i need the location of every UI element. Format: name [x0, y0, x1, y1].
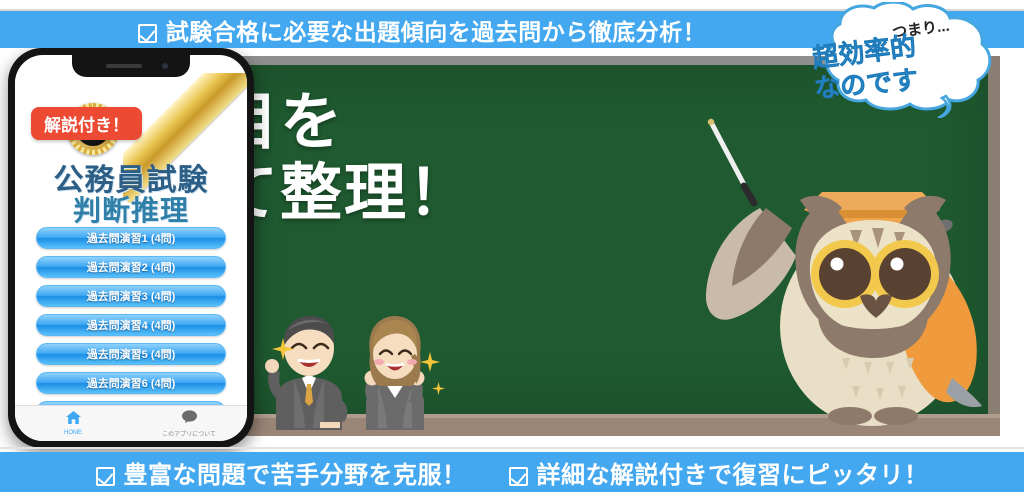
phone-mockup: BEST CHOICE 解説付き！ 公務員試験 判断推理 過去問演習1 (4問)…: [8, 48, 254, 448]
bottom-divider: [0, 447, 1024, 449]
home-icon: [66, 411, 81, 429]
checkbox-checked-icon: [96, 467, 115, 486]
question-set-button[interactable]: 過去問演習1 (4問): [36, 227, 226, 249]
bottom-banner-item-1: 豊富な問題で苦手分野を克服！: [96, 455, 467, 490]
app-screen: BEST CHOICE 解説付き！ 公務員試験 判断推理 過去問演習1 (4問)…: [15, 77, 247, 441]
promo-banner-image: 頻出項目を まとめて整理！: [0, 0, 1024, 500]
question-set-button[interactable]: 過去問演習2 (4問): [36, 256, 226, 278]
bottom-banner-text-2: 詳細な解説付きで復習にピッタリ！: [537, 462, 929, 489]
sparkle-icon-left: [272, 338, 294, 365]
pointer-stick: [708, 119, 754, 203]
question-set-button[interactable]: 過去問演習4 (4問): [36, 314, 226, 336]
bottom-banner: 豊富な問題で苦手分野を克服！ 詳細な解説付きで復習にピッタリ！: [0, 452, 1024, 492]
tab-home[interactable]: HOME: [15, 406, 131, 441]
tab-about-label: このアプリについて: [162, 429, 216, 438]
question-set-button[interactable]: 過去問演習6 (4問): [36, 372, 226, 394]
bottom-banner-text-1: 豊富な問題で苦手分野を克服！: [124, 462, 467, 489]
bottom-banner-item-2: 詳細な解説付きで復習にピッタリ！: [509, 455, 929, 490]
owl-professor-illustration: [700, 96, 1020, 426]
female-student: [365, 316, 425, 430]
top-banner-text: 試験合格に必要な出題傾向を過去問から徹底分析！: [166, 19, 707, 45]
phone-speaker: [106, 64, 142, 68]
phone-notch: [72, 55, 190, 77]
checkbox-checked-icon: [138, 24, 157, 43]
phone-camera: [162, 63, 168, 69]
app-tab-bar: HOME このアプリについて: [15, 405, 247, 441]
question-set-button[interactable]: 過去問演習5 (4問): [36, 343, 226, 365]
speech-bubble-icon: [182, 410, 197, 428]
tab-about[interactable]: このアプリについて: [131, 406, 247, 441]
sparkle-icon-right-a: [420, 352, 440, 377]
explanation-included-badge: 解説付き！: [31, 107, 142, 140]
app-title-line2: 判断推理: [15, 189, 247, 229]
speech-bubble: つまり... 超効率的 なのです: [800, 2, 1010, 118]
tab-home-label: HOME: [64, 430, 82, 436]
male-student: [265, 316, 347, 430]
phone-screen: BEST CHOICE 解説付き！ 公務員試験 判断推理 過去問演習1 (4問)…: [15, 55, 247, 441]
checkbox-checked-icon: [509, 467, 528, 486]
question-set-button[interactable]: 過去問演習3 (4問): [36, 285, 226, 307]
sparkle-icon-right-b: [432, 382, 445, 400]
